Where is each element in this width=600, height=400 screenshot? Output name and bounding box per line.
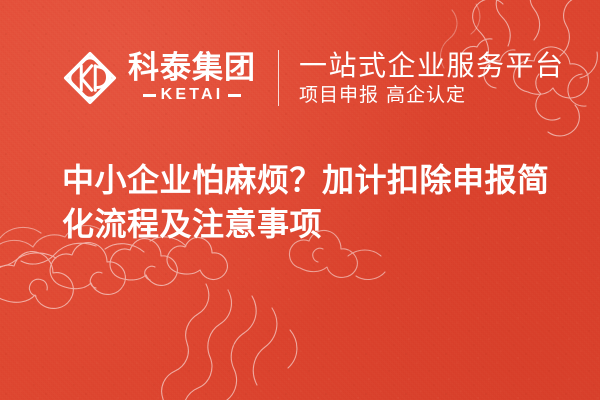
headline-line-1: 中小企业怕麻烦？加计扣除申报简 (62, 158, 548, 202)
brand-latin-row: KETAI (128, 87, 256, 103)
header-divider (278, 50, 279, 106)
ketai-diamond-kd-monogram-icon (62, 50, 118, 106)
cloud-bottom-left-icon (0, 237, 297, 400)
brand-logo[interactable]: 科泰集团 KETAI (62, 50, 256, 106)
banner-header: 科泰集团 KETAI 一站式企业服务平台 项目申报 高企认定 (62, 42, 565, 114)
tagline-main: 一站式企业服务平台 (299, 52, 565, 80)
tagline-sub: 项目申报 高企认定 (299, 86, 565, 105)
wordmark-rule-right (228, 94, 241, 97)
promo-banner: 科泰集团 KETAI 一站式企业服务平台 项目申报 高企认定 中小企业怕麻烦？加… (0, 0, 600, 400)
wordmark-rule-left (143, 94, 156, 97)
brand-name-cn: 科泰集团 (128, 53, 256, 84)
headline-line-2: 化流程及注意事项 (62, 202, 548, 246)
tagline-block: 一站式企业服务平台 项目申报 高企认定 (299, 52, 565, 105)
page-title: 中小企业怕麻烦？加计扣除申报简 化流程及注意事项 (62, 158, 548, 246)
brand-wordmark: 科泰集团 KETAI (128, 53, 256, 103)
brand-name-latin: KETAI (161, 87, 224, 103)
